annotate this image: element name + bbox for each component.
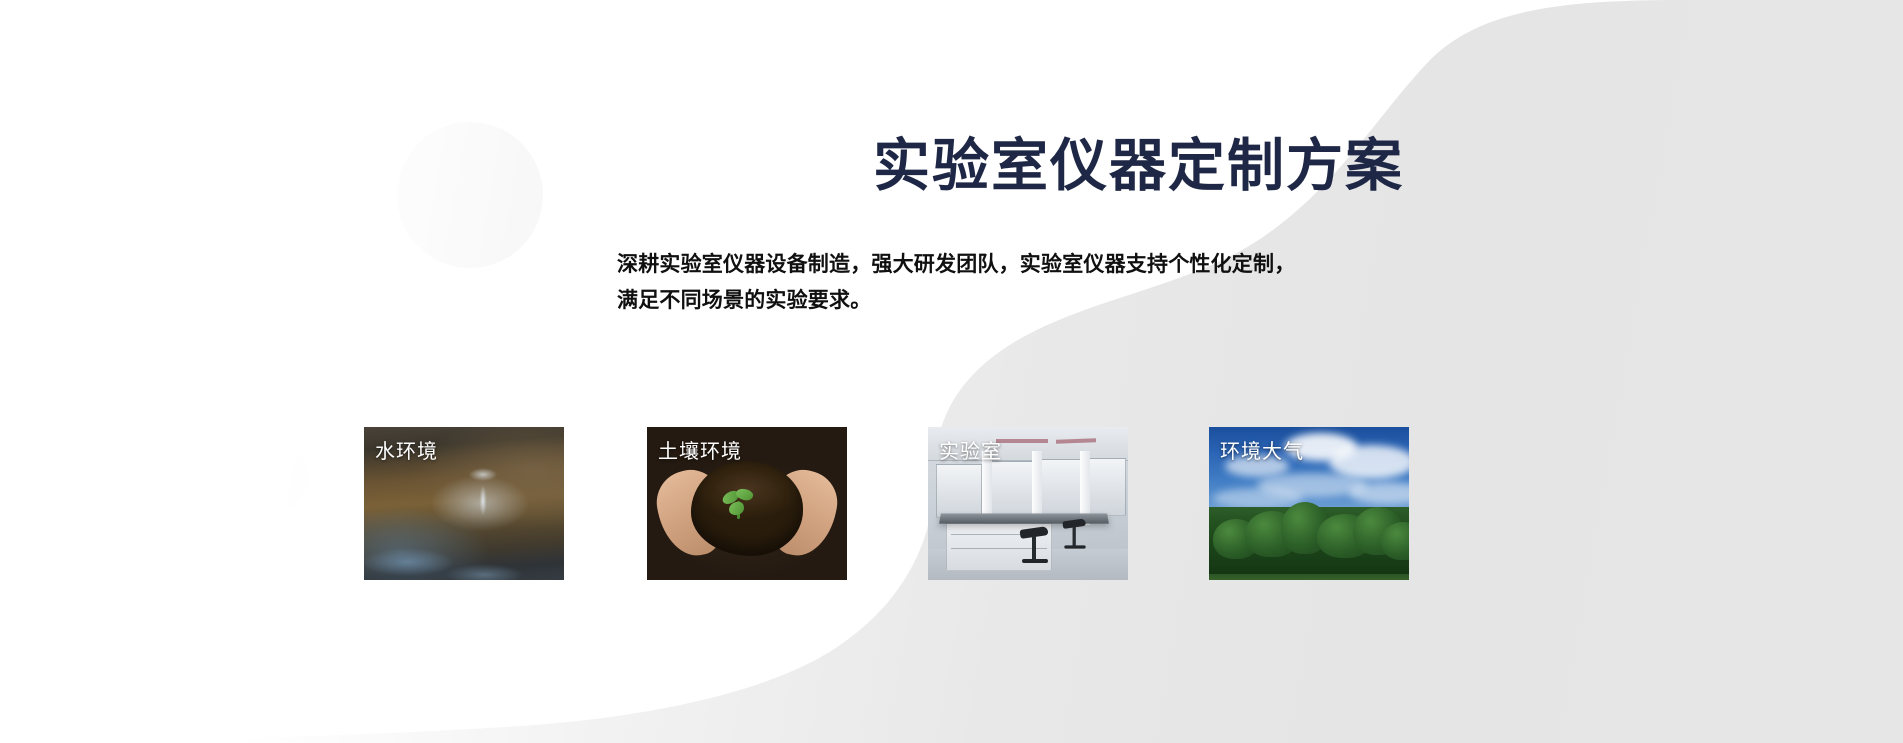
lab-stool xyxy=(1063,520,1088,556)
stool-foot xyxy=(1064,545,1085,548)
category-card-label: 环境大气 xyxy=(1220,438,1304,464)
background-gradient xyxy=(0,0,1903,743)
category-card-label: 实验室 xyxy=(939,438,1002,464)
category-card-laboratory[interactable]: 实验室 xyxy=(928,427,1128,580)
stool-post xyxy=(1032,536,1036,560)
category-card-label: 土壤环境 xyxy=(658,438,742,464)
category-card-water[interactable]: 水环境 xyxy=(364,427,564,580)
category-card-strip: 水环境 土壤环境 xyxy=(364,427,1574,580)
stool-foot xyxy=(1022,559,1048,563)
sprout-leaf xyxy=(728,501,744,515)
forest-band xyxy=(1209,507,1409,580)
lab-fume-hood xyxy=(936,464,982,518)
hero-banner: 实验室仪器定制方案 深耕实验室仪器设备制造，强大研发团队，实验室仪器支持个性化定… xyxy=(0,0,1903,743)
tree-canopy xyxy=(1381,522,1409,560)
stool-post xyxy=(1073,526,1076,546)
category-card-atmosphere[interactable]: 环境大气 xyxy=(1209,427,1409,580)
cloud-shape xyxy=(1349,482,1409,504)
lab-ceiling-strip xyxy=(996,439,1048,443)
lab-fume-hood xyxy=(1084,458,1126,517)
category-card-soil[interactable]: 土壤环境 xyxy=(647,427,847,580)
grass-strip xyxy=(1209,574,1409,580)
lab-fume-hood xyxy=(1036,459,1082,516)
cloud-shape xyxy=(1213,488,1303,508)
lab-stool xyxy=(1020,528,1050,572)
seedling-sprout-icon xyxy=(722,488,756,522)
category-card-label: 水环境 xyxy=(375,438,438,464)
